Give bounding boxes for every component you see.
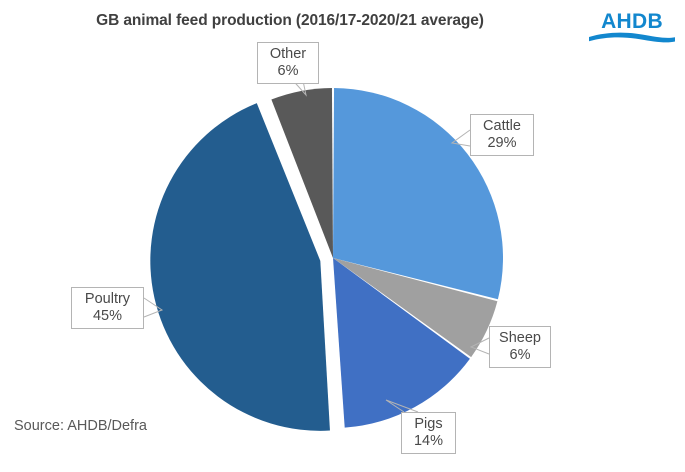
pie-chart-figure: GB animal feed production (2016/17-2020/… — [0, 0, 685, 472]
pie-graphic — [0, 0, 685, 472]
callout-other-value: 6% — [265, 63, 311, 80]
callout-cattle-value: 29% — [478, 135, 526, 152]
callout-other-name: Other — [265, 46, 311, 63]
callout-poultry-value: 45% — [79, 308, 136, 325]
source-note: Source: AHDB/Defra — [14, 418, 147, 434]
callout-label-poultry[interactable]: Poultry 45% — [71, 287, 144, 329]
callout-label-other[interactable]: Other 6% — [257, 42, 319, 84]
callout-pigs-value: 14% — [409, 433, 448, 450]
callout-cattle-name: Cattle — [478, 118, 526, 135]
callout-sheep-name: Sheep — [497, 330, 543, 347]
leader-line-cattle — [452, 130, 470, 146]
callout-sheep-value: 6% — [497, 347, 543, 364]
callout-label-cattle[interactable]: Cattle 29% — [470, 114, 534, 156]
callout-pigs-name: Pigs — [409, 416, 448, 433]
callout-label-sheep[interactable]: Sheep 6% — [489, 326, 551, 368]
callout-poultry-name: Poultry — [79, 291, 136, 308]
callout-label-pigs[interactable]: Pigs 14% — [401, 412, 456, 454]
